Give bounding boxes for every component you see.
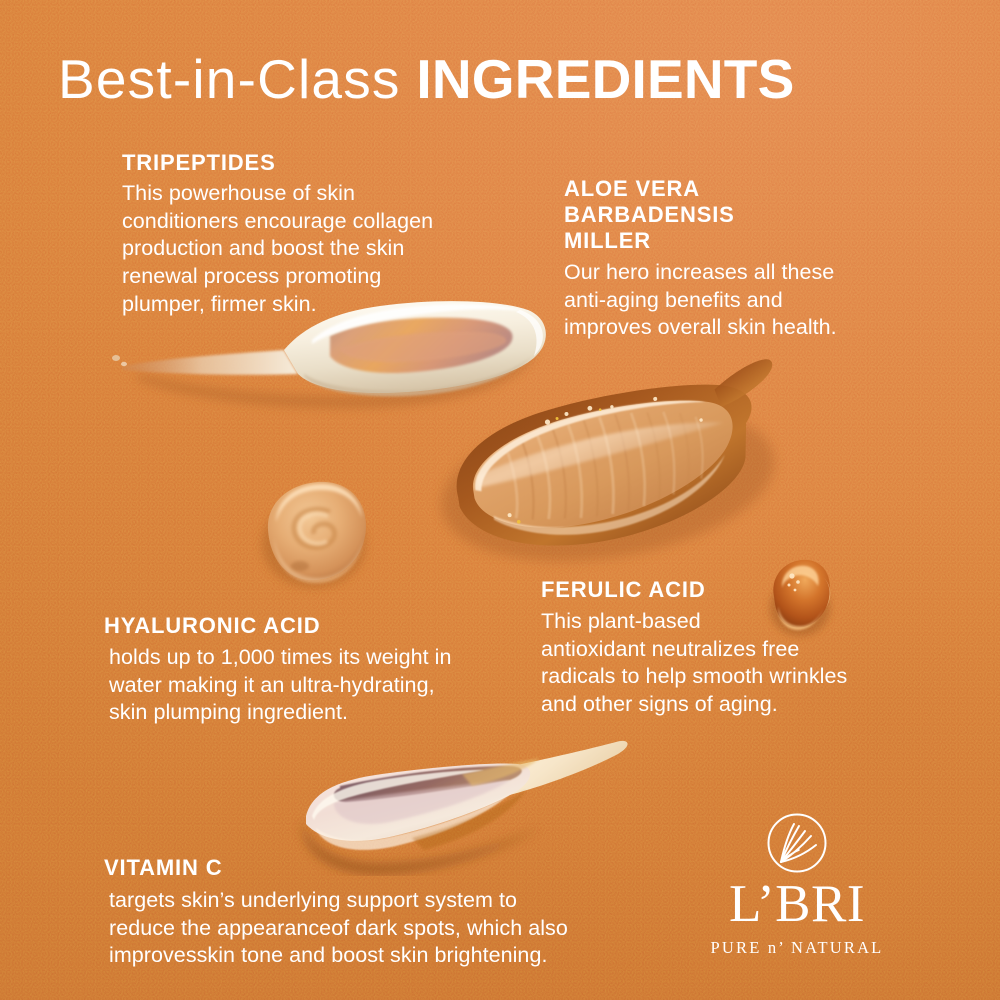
- ingredient-heading: ALOE VERA BARBADENSIS MILLER: [564, 176, 837, 254]
- ingredients-infographic: Best-in-Class INGREDIENTS TRIPEPTIDES Th…: [0, 0, 1000, 1000]
- ingredient-block-aloe-vera: ALOE VERA BARBADENSIS MILLER Our hero in…: [564, 176, 837, 342]
- description-line: anti-aging benefits and: [564, 287, 837, 315]
- logo-tagline: PURE n’ NATURAL: [700, 938, 894, 958]
- aloe-leaves-circle-icon: [766, 812, 828, 874]
- ingredient-block-tripeptides: TRIPEPTIDES This powerhouse of skin cond…: [122, 150, 433, 319]
- description-line: reduce the appearanceof dark spots, whic…: [109, 915, 568, 943]
- heading-line: ALOE VERA: [564, 176, 837, 202]
- ingredient-description: This powerhouse of skin conditioners enc…: [122, 180, 433, 319]
- description-line: plumper, firmer skin.: [122, 291, 433, 319]
- amber-gel-swatch: [408, 352, 798, 592]
- description-line: Our hero increases all these: [564, 259, 837, 287]
- ingredient-block-ferulic-acid: FERULIC ACID This plant-based antioxidan…: [541, 577, 847, 719]
- page-title-light: Best-in-Class: [58, 48, 401, 110]
- ingredient-heading: HYALURONIC ACID: [104, 613, 451, 639]
- ingredient-block-hyaluronic-acid: HYALURONIC ACID holds up to 1,000 times …: [104, 613, 451, 727]
- description-line: improves overall skin health.: [564, 314, 837, 342]
- description-line: antioxidant neutralizes free: [541, 636, 847, 664]
- description-line: and other signs of aging.: [541, 691, 847, 719]
- page-title: Best-in-Class INGREDIENTS: [58, 52, 794, 107]
- description-line: This powerhouse of skin: [122, 180, 433, 208]
- cream-dollop-swatch: [248, 468, 380, 600]
- description-line: skin plumping ingredient.: [109, 699, 451, 727]
- description-line: radicals to help smooth wrinkles: [541, 663, 847, 691]
- ingredient-heading: FERULIC ACID: [541, 577, 847, 603]
- heading-line: MILLER: [564, 228, 837, 254]
- description-line: production and boost the skin: [122, 235, 433, 263]
- description-line: water making it an ultra-hydrating,: [109, 672, 451, 700]
- ingredient-block-vitamin-c: VITAMIN C targets skin’s underlying supp…: [104, 855, 568, 970]
- logo-wordmark: L’BRI: [700, 878, 894, 931]
- description-line: renewal process promoting: [122, 263, 433, 291]
- description-line: targets skin’s underlying support system…: [109, 887, 568, 915]
- description-line: holds up to 1,000 times its weight in: [109, 644, 451, 672]
- heading-line: BARBADENSIS: [564, 202, 837, 228]
- page-title-bold: INGREDIENTS: [416, 48, 794, 110]
- ingredient-heading: VITAMIN C: [104, 855, 568, 881]
- description-line: conditioners encourage collagen: [122, 208, 433, 236]
- description-line: This plant-based: [541, 608, 847, 636]
- ingredient-description: This plant-based antioxidant neutralizes…: [541, 608, 847, 719]
- description-line: improvesskin tone and boost skin brighte…: [109, 942, 568, 970]
- lotion-smear-swatch: [286, 724, 632, 876]
- brand-logo: L’BRI PURE n’ NATURAL: [700, 812, 894, 964]
- ingredient-heading: TRIPEPTIDES: [122, 150, 433, 176]
- ingredient-description: Our hero increases all these anti-aging …: [564, 259, 837, 342]
- ingredient-description: holds up to 1,000 times its weight in wa…: [109, 644, 451, 727]
- ingredient-description: targets skin’s underlying support system…: [109, 887, 568, 970]
